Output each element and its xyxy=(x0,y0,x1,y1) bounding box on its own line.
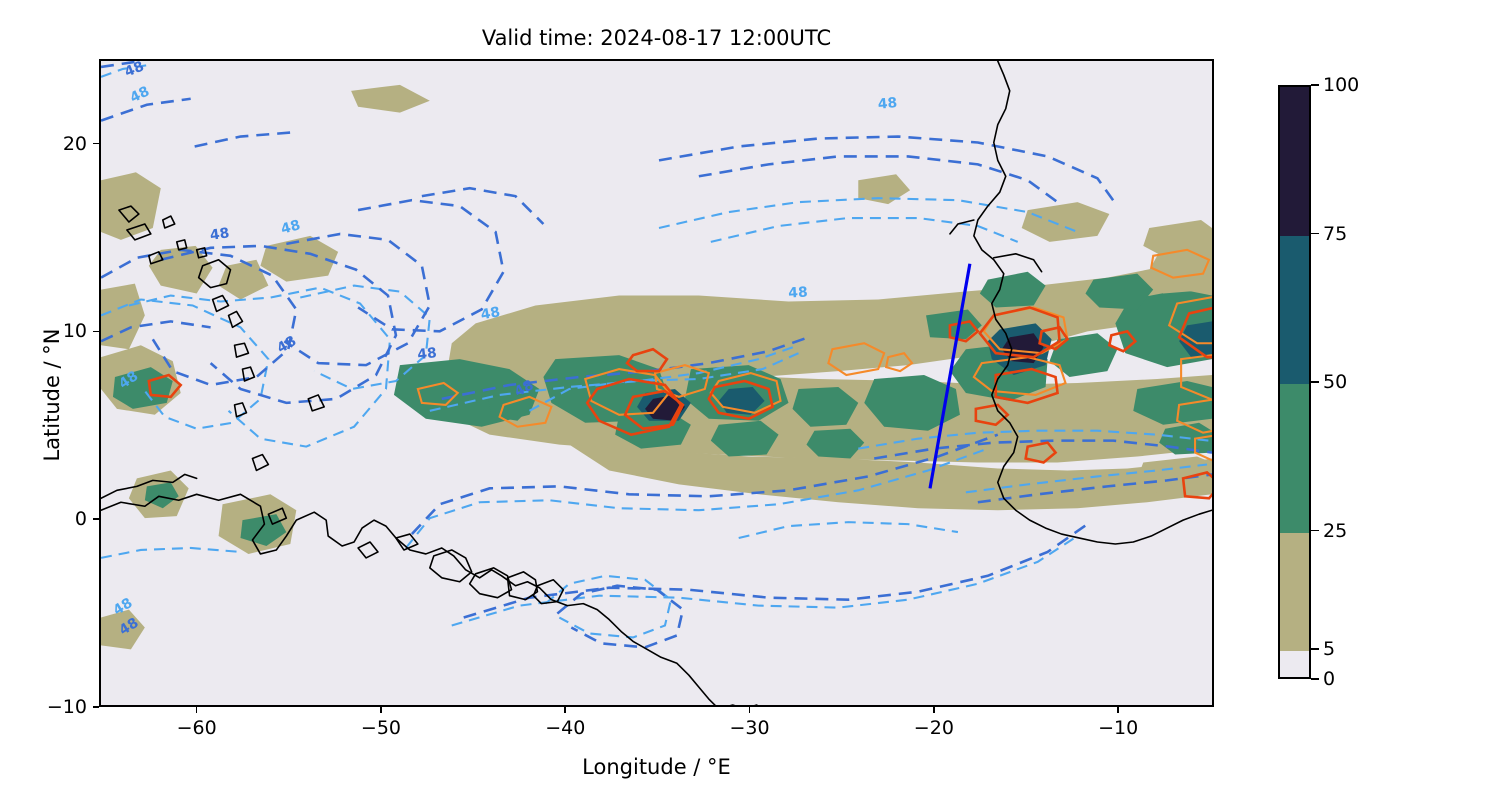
colorbar-tick-mark xyxy=(1311,648,1319,650)
x-tick-label: −10 xyxy=(1098,717,1138,739)
map-plot-area[interactable]: 48 48 48 48 48 48 48 48 48 48 48 48 48 xyxy=(99,59,1214,707)
y-axis-label: Latitude / °N xyxy=(40,255,64,535)
colorbar-band xyxy=(1280,87,1309,236)
svg-text:48: 48 xyxy=(480,304,502,323)
colorbar-tick-mark xyxy=(1311,84,1319,86)
colorbar-tick-label: 0 xyxy=(1323,668,1335,690)
colorbar-band xyxy=(1280,533,1309,652)
x-tick-mark xyxy=(933,707,935,713)
svg-text:48: 48 xyxy=(274,333,299,357)
y-tick-mark xyxy=(93,706,99,708)
colorbar-band xyxy=(1280,651,1309,679)
svg-text:48: 48 xyxy=(788,285,808,302)
x-tick-mark xyxy=(196,707,198,713)
map-svg: 48 48 48 48 48 48 48 48 48 48 48 48 48 xyxy=(101,61,1212,705)
x-tick-label: −60 xyxy=(177,717,217,739)
svg-text:48: 48 xyxy=(128,83,152,106)
x-tick-mark xyxy=(749,707,751,713)
y-tick-mark xyxy=(93,518,99,520)
y-tick-mark xyxy=(93,143,99,145)
svg-text:48: 48 xyxy=(417,345,438,363)
colorbar-tick-label: 50 xyxy=(1323,371,1347,393)
colorbar-wrapper[interactable] xyxy=(1278,85,1311,679)
x-tick-label: −30 xyxy=(730,717,770,739)
x-axis-label: Longitude / °E xyxy=(99,755,1214,779)
x-tick-label: −20 xyxy=(914,717,954,739)
y-tick-label: 10 xyxy=(0,320,87,342)
y-tick-label: −10 xyxy=(0,696,87,718)
colorbar-tick-mark xyxy=(1311,233,1319,235)
colorbar-tick-mark xyxy=(1311,530,1319,532)
colorbar-tick-mark xyxy=(1311,678,1319,680)
y-tick-label: 20 xyxy=(0,133,87,155)
colorbar-tick-label: 100 xyxy=(1323,74,1359,96)
colorbar-tick-label: 25 xyxy=(1323,520,1347,542)
x-tick-mark xyxy=(564,707,566,713)
colorbar-tick-label: 75 xyxy=(1323,223,1347,245)
svg-text:48: 48 xyxy=(209,225,230,244)
x-tick-label: −40 xyxy=(545,717,585,739)
y-tick-label: 0 xyxy=(0,508,87,530)
svg-text:48: 48 xyxy=(279,217,302,237)
colorbar[interactable] xyxy=(1278,85,1311,679)
colorbar-tick-mark xyxy=(1311,381,1319,383)
colorbar-band xyxy=(1280,236,1309,385)
colorbar-tick-label: 5 xyxy=(1323,638,1335,660)
svg-text:48: 48 xyxy=(122,61,146,81)
x-tick-label: −50 xyxy=(361,717,401,739)
figure-canvas: Valid time: 2024-08-17 12:00UTC xyxy=(0,0,1500,800)
y-tick-mark xyxy=(93,331,99,333)
x-tick-mark xyxy=(1117,707,1119,713)
colorbar-band xyxy=(1280,384,1309,533)
x-tick-mark xyxy=(380,707,382,713)
svg-text:48: 48 xyxy=(877,95,898,113)
page-title: Valid time: 2024-08-17 12:00UTC xyxy=(99,26,1214,50)
